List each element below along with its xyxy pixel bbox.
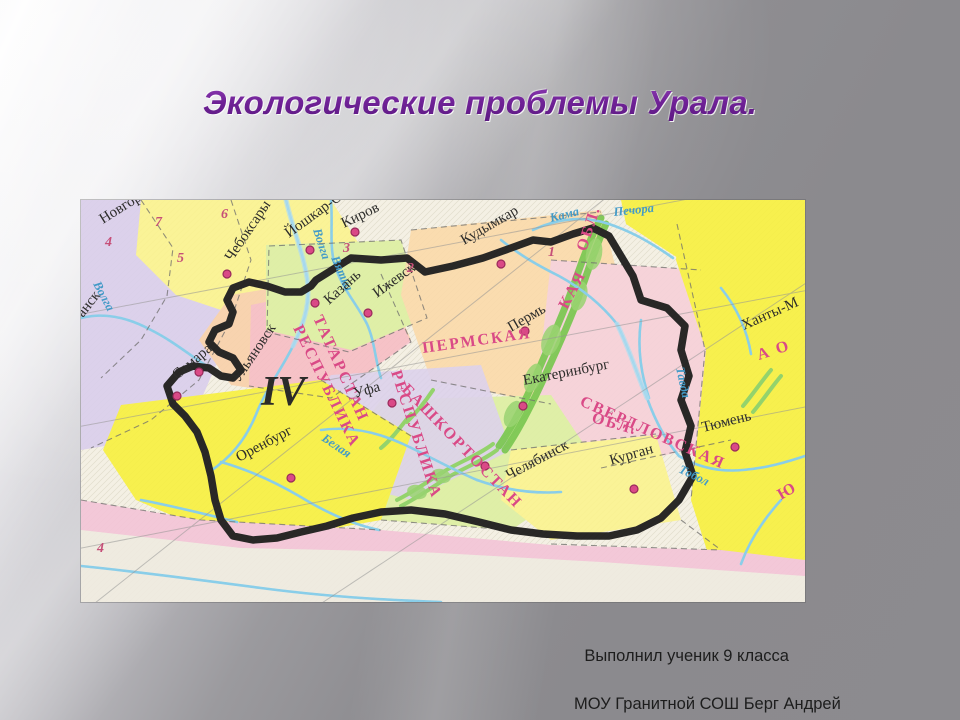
slide-root: Экологические проблемы Урала.: [0, 0, 960, 720]
credit-line-2: МОУ Гранитной СОШ Берг Андрей: [566, 692, 958, 716]
map-svg: ПЕРМСКАЯОБЛ.КАЯСВЕРДЛОВСКАЯОБЛ.РЕСПУБЛИК…: [81, 200, 805, 602]
slide-title: Экологические проблемы Урала.: [0, 84, 960, 122]
author-credit: Выполнил ученик 9 класса МОУ Гранитной С…: [566, 620, 958, 720]
map-image: ПЕРМСКАЯОБЛ.КАЯСВЕРДЛОВСКАЯОБЛ.РЕСПУБЛИК…: [81, 200, 805, 602]
credit-line-1: Выполнил ученик 9 класса: [584, 647, 789, 665]
